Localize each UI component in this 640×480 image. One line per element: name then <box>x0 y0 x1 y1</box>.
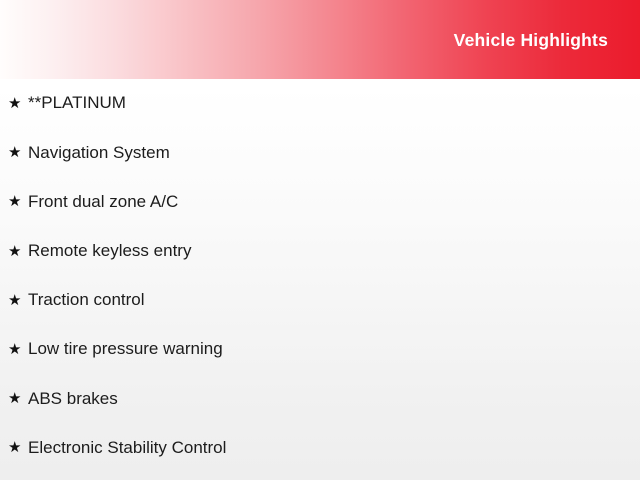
header-banner: Vehicle Highlights <box>0 0 640 79</box>
list-item-label: Traction control <box>28 290 145 310</box>
list-item: ★ Front dual zone A/C <box>0 177 640 226</box>
list-item-label: Low tire pressure warning <box>28 339 223 359</box>
page-title: Vehicle Highlights <box>454 30 608 51</box>
star-icon: ★ <box>8 293 28 308</box>
list-item-label: Remote keyless entry <box>28 241 191 261</box>
star-icon: ★ <box>8 194 28 209</box>
list-item-label: Navigation System <box>28 143 170 163</box>
list-item-label: Electronic Stability Control <box>28 438 226 458</box>
vehicle-highlights-list: ★ **PLATINUM ★ Navigation System ★ Front… <box>0 79 640 473</box>
list-item: ★ Low tire pressure warning <box>0 325 640 374</box>
list-item-label: Front dual zone A/C <box>28 192 178 212</box>
star-icon: ★ <box>8 96 28 111</box>
star-icon: ★ <box>8 244 28 259</box>
list-item: ★ Traction control <box>0 276 640 325</box>
star-icon: ★ <box>8 145 28 160</box>
star-icon: ★ <box>8 440 28 455</box>
list-item: ★ Remote keyless entry <box>0 227 640 276</box>
vehicle-highlights-page: Vehicle Highlights ★ **PLATINUM ★ Naviga… <box>0 0 640 480</box>
star-icon: ★ <box>8 342 28 357</box>
list-item: ★ Navigation System <box>0 128 640 177</box>
list-item-label: ABS brakes <box>28 389 118 409</box>
list-item-label: **PLATINUM <box>28 93 126 113</box>
list-item: ★ **PLATINUM <box>0 79 640 128</box>
list-item: ★ ABS brakes <box>0 374 640 423</box>
star-icon: ★ <box>8 391 28 406</box>
list-item: ★ Electronic Stability Control <box>0 423 640 472</box>
